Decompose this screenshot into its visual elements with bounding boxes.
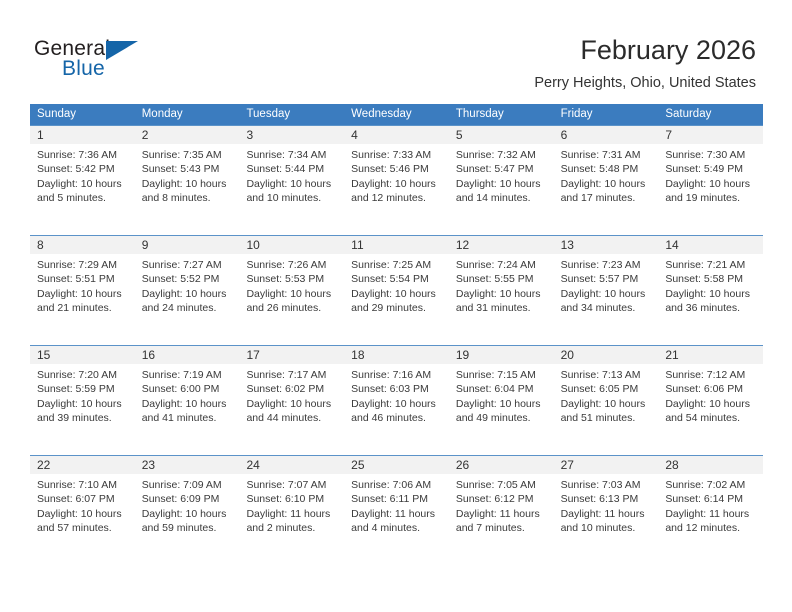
day-cell[interactable]: 17 Sunrise: 7:17 AM Sunset: 6:02 PM Dayl… xyxy=(239,346,344,455)
day-cell[interactable]: 9 Sunrise: 7:27 AM Sunset: 5:52 PM Dayli… xyxy=(135,236,240,345)
daylight-text: Daylight: 10 hours and 12 minutes. xyxy=(351,177,441,206)
sunrise-text: Sunrise: 7:35 AM xyxy=(142,148,232,162)
sunrise-text: Sunrise: 7:02 AM xyxy=(665,478,755,492)
sunrise-text: Sunrise: 7:33 AM xyxy=(351,148,441,162)
daylight-text: Daylight: 10 hours and 31 minutes. xyxy=(456,287,546,316)
day-number: 4 xyxy=(344,126,449,144)
day-number: 18 xyxy=(344,346,449,364)
page-header: General Blue February 2026 Perry Heights… xyxy=(0,0,792,100)
day-cell[interactable]: 22 Sunrise: 7:10 AM Sunset: 6:07 PM Dayl… xyxy=(30,456,135,565)
day-info: Sunrise: 7:02 AM Sunset: 6:14 PM Dayligh… xyxy=(658,474,763,536)
sunset-text: Sunset: 5:51 PM xyxy=(37,272,127,286)
sunrise-text: Sunrise: 7:23 AM xyxy=(561,258,651,272)
daylight-text: Daylight: 10 hours and 51 minutes. xyxy=(561,397,651,426)
day-cell[interactable]: 20 Sunrise: 7:13 AM Sunset: 6:05 PM Dayl… xyxy=(554,346,659,455)
sunrise-text: Sunrise: 7:05 AM xyxy=(456,478,546,492)
day-number: 19 xyxy=(449,346,554,364)
day-number: 6 xyxy=(554,126,659,144)
day-number: 22 xyxy=(30,456,135,474)
sunset-text: Sunset: 6:12 PM xyxy=(456,492,546,506)
day-number: 17 xyxy=(239,346,344,364)
day-number: 27 xyxy=(554,456,659,474)
title-block: February 2026 Perry Heights, Ohio, Unite… xyxy=(534,34,756,92)
sunrise-text: Sunrise: 7:21 AM xyxy=(665,258,755,272)
general-blue-logo[interactable]: General Blue xyxy=(34,38,194,86)
daylight-text: Daylight: 10 hours and 14 minutes. xyxy=(456,177,546,206)
day-cell[interactable]: 15 Sunrise: 7:20 AM Sunset: 5:59 PM Dayl… xyxy=(30,346,135,455)
sunrise-text: Sunrise: 7:06 AM xyxy=(351,478,441,492)
day-number: 10 xyxy=(239,236,344,254)
sunset-text: Sunset: 6:03 PM xyxy=(351,382,441,396)
daylight-text: Daylight: 10 hours and 39 minutes. xyxy=(37,397,127,426)
sunset-text: Sunset: 5:54 PM xyxy=(351,272,441,286)
sunset-text: Sunset: 6:09 PM xyxy=(142,492,232,506)
sunset-text: Sunset: 5:46 PM xyxy=(351,162,441,176)
page-subtitle-location: Perry Heights, Ohio, United States xyxy=(534,75,756,92)
sunset-text: Sunset: 5:52 PM xyxy=(142,272,232,286)
day-number: 26 xyxy=(449,456,554,474)
day-number: 13 xyxy=(554,236,659,254)
day-info: Sunrise: 7:27 AM Sunset: 5:52 PM Dayligh… xyxy=(135,254,240,316)
day-info: Sunrise: 7:10 AM Sunset: 6:07 PM Dayligh… xyxy=(30,474,135,536)
daylight-text: Daylight: 10 hours and 49 minutes. xyxy=(456,397,546,426)
sunrise-text: Sunrise: 7:34 AM xyxy=(246,148,336,162)
sunset-text: Sunset: 5:59 PM xyxy=(37,382,127,396)
weekday-header-tuesday: Tuesday xyxy=(239,104,344,125)
calendar-week-row: 8 Sunrise: 7:29 AM Sunset: 5:51 PM Dayli… xyxy=(30,235,763,345)
sunrise-text: Sunrise: 7:29 AM xyxy=(37,258,127,272)
daylight-text: Daylight: 10 hours and 5 minutes. xyxy=(37,177,127,206)
day-info: Sunrise: 7:35 AM Sunset: 5:43 PM Dayligh… xyxy=(135,144,240,206)
day-cell[interactable]: 12 Sunrise: 7:24 AM Sunset: 5:55 PM Dayl… xyxy=(449,236,554,345)
day-number: 15 xyxy=(30,346,135,364)
daylight-text: Daylight: 11 hours and 10 minutes. xyxy=(561,507,651,536)
daylight-text: Daylight: 11 hours and 4 minutes. xyxy=(351,507,441,536)
sunrise-text: Sunrise: 7:15 AM xyxy=(456,368,546,382)
daylight-text: Daylight: 11 hours and 2 minutes. xyxy=(246,507,336,536)
day-cell[interactable]: 21 Sunrise: 7:12 AM Sunset: 6:06 PM Dayl… xyxy=(658,346,763,455)
sunrise-text: Sunrise: 7:31 AM xyxy=(561,148,651,162)
day-number: 21 xyxy=(658,346,763,364)
day-number: 28 xyxy=(658,456,763,474)
day-cell[interactable]: 24 Sunrise: 7:07 AM Sunset: 6:10 PM Dayl… xyxy=(239,456,344,565)
day-cell[interactable]: 10 Sunrise: 7:26 AM Sunset: 5:53 PM Dayl… xyxy=(239,236,344,345)
daylight-text: Daylight: 10 hours and 54 minutes. xyxy=(665,397,755,426)
day-info: Sunrise: 7:36 AM Sunset: 5:42 PM Dayligh… xyxy=(30,144,135,206)
calendar-week-row: 22 Sunrise: 7:10 AM Sunset: 6:07 PM Dayl… xyxy=(30,455,763,565)
daylight-text: Daylight: 10 hours and 34 minutes. xyxy=(561,287,651,316)
sunset-text: Sunset: 6:10 PM xyxy=(246,492,336,506)
day-number: 8 xyxy=(30,236,135,254)
sunrise-text: Sunrise: 7:24 AM xyxy=(456,258,546,272)
sunset-text: Sunset: 6:13 PM xyxy=(561,492,651,506)
sunset-text: Sunset: 6:14 PM xyxy=(665,492,755,506)
calendar-page: General Blue February 2026 Perry Heights… xyxy=(0,0,792,612)
sunset-text: Sunset: 5:42 PM xyxy=(37,162,127,176)
day-number: 9 xyxy=(135,236,240,254)
day-info: Sunrise: 7:20 AM Sunset: 5:59 PM Dayligh… xyxy=(30,364,135,426)
sunset-text: Sunset: 6:06 PM xyxy=(665,382,755,396)
day-info: Sunrise: 7:07 AM Sunset: 6:10 PM Dayligh… xyxy=(239,474,344,536)
day-info: Sunrise: 7:33 AM Sunset: 5:46 PM Dayligh… xyxy=(344,144,449,206)
sunset-text: Sunset: 5:48 PM xyxy=(561,162,651,176)
weekday-header-thursday: Thursday xyxy=(449,104,554,125)
day-cell[interactable]: 2 Sunrise: 7:35 AM Sunset: 5:43 PM Dayli… xyxy=(135,126,240,235)
daylight-text: Daylight: 10 hours and 44 minutes. xyxy=(246,397,336,426)
daylight-text: Daylight: 10 hours and 29 minutes. xyxy=(351,287,441,316)
day-info: Sunrise: 7:13 AM Sunset: 6:05 PM Dayligh… xyxy=(554,364,659,426)
day-info: Sunrise: 7:16 AM Sunset: 6:03 PM Dayligh… xyxy=(344,364,449,426)
page-title: February 2026 xyxy=(534,34,756,66)
weekday-header-wednesday: Wednesday xyxy=(344,104,449,125)
daylight-text: Daylight: 10 hours and 17 minutes. xyxy=(561,177,651,206)
day-info: Sunrise: 7:29 AM Sunset: 5:51 PM Dayligh… xyxy=(30,254,135,316)
day-cell[interactable]: 7 Sunrise: 7:30 AM Sunset: 5:49 PM Dayli… xyxy=(658,126,763,235)
day-cell[interactable]: 13 Sunrise: 7:23 AM Sunset: 5:57 PM Dayl… xyxy=(554,236,659,345)
day-cell[interactable]: 6 Sunrise: 7:31 AM Sunset: 5:48 PM Dayli… xyxy=(554,126,659,235)
sunset-text: Sunset: 5:44 PM xyxy=(246,162,336,176)
day-info: Sunrise: 7:15 AM Sunset: 6:04 PM Dayligh… xyxy=(449,364,554,426)
weekday-header-monday: Monday xyxy=(135,104,240,125)
day-info: Sunrise: 7:17 AM Sunset: 6:02 PM Dayligh… xyxy=(239,364,344,426)
day-info: Sunrise: 7:32 AM Sunset: 5:47 PM Dayligh… xyxy=(449,144,554,206)
daylight-text: Daylight: 10 hours and 24 minutes. xyxy=(142,287,232,316)
sunrise-text: Sunrise: 7:03 AM xyxy=(561,478,651,492)
weekday-header-row: Sunday Monday Tuesday Wednesday Thursday… xyxy=(30,104,763,125)
logo-triangle-icon xyxy=(106,41,138,60)
day-cell[interactable]: 18 Sunrise: 7:16 AM Sunset: 6:03 PM Dayl… xyxy=(344,346,449,455)
day-info: Sunrise: 7:05 AM Sunset: 6:12 PM Dayligh… xyxy=(449,474,554,536)
logo-text-blue: Blue xyxy=(62,58,105,80)
daylight-text: Daylight: 10 hours and 36 minutes. xyxy=(665,287,755,316)
day-cell[interactable]: 19 Sunrise: 7:15 AM Sunset: 6:04 PM Dayl… xyxy=(449,346,554,455)
day-info: Sunrise: 7:23 AM Sunset: 5:57 PM Dayligh… xyxy=(554,254,659,316)
day-cell[interactable]: 23 Sunrise: 7:09 AM Sunset: 6:09 PM Dayl… xyxy=(135,456,240,565)
day-info: Sunrise: 7:24 AM Sunset: 5:55 PM Dayligh… xyxy=(449,254,554,316)
day-number: 20 xyxy=(554,346,659,364)
sunset-text: Sunset: 6:11 PM xyxy=(351,492,441,506)
day-info: Sunrise: 7:26 AM Sunset: 5:53 PM Dayligh… xyxy=(239,254,344,316)
day-number: 12 xyxy=(449,236,554,254)
sunset-text: Sunset: 6:04 PM xyxy=(456,382,546,396)
sunrise-text: Sunrise: 7:07 AM xyxy=(246,478,336,492)
sunrise-text: Sunrise: 7:12 AM xyxy=(665,368,755,382)
sunrise-text: Sunrise: 7:09 AM xyxy=(142,478,232,492)
day-info: Sunrise: 7:34 AM Sunset: 5:44 PM Dayligh… xyxy=(239,144,344,206)
day-number: 25 xyxy=(344,456,449,474)
day-cell[interactable]: 26 Sunrise: 7:05 AM Sunset: 6:12 PM Dayl… xyxy=(449,456,554,565)
day-cell[interactable]: 8 Sunrise: 7:29 AM Sunset: 5:51 PM Dayli… xyxy=(30,236,135,345)
day-number: 5 xyxy=(449,126,554,144)
calendar-week-row: 15 Sunrise: 7:20 AM Sunset: 5:59 PM Dayl… xyxy=(30,345,763,455)
sunrise-text: Sunrise: 7:27 AM xyxy=(142,258,232,272)
day-cell[interactable]: 11 Sunrise: 7:25 AM Sunset: 5:54 PM Dayl… xyxy=(344,236,449,345)
daylight-text: Daylight: 10 hours and 8 minutes. xyxy=(142,177,232,206)
sunset-text: Sunset: 5:49 PM xyxy=(665,162,755,176)
day-info: Sunrise: 7:21 AM Sunset: 5:58 PM Dayligh… xyxy=(658,254,763,316)
daylight-text: Daylight: 11 hours and 7 minutes. xyxy=(456,507,546,536)
sunset-text: Sunset: 5:57 PM xyxy=(561,272,651,286)
sunset-text: Sunset: 5:43 PM xyxy=(142,162,232,176)
daylight-text: Daylight: 10 hours and 59 minutes. xyxy=(142,507,232,536)
sunset-text: Sunset: 6:07 PM xyxy=(37,492,127,506)
day-info: Sunrise: 7:12 AM Sunset: 6:06 PM Dayligh… xyxy=(658,364,763,426)
sunset-text: Sunset: 6:00 PM xyxy=(142,382,232,396)
sunrise-text: Sunrise: 7:30 AM xyxy=(665,148,755,162)
weekday-header-saturday: Saturday xyxy=(658,104,763,125)
day-number: 1 xyxy=(30,126,135,144)
sunset-text: Sunset: 5:58 PM xyxy=(665,272,755,286)
day-info: Sunrise: 7:03 AM Sunset: 6:13 PM Dayligh… xyxy=(554,474,659,536)
day-cell[interactable]: 27 Sunrise: 7:03 AM Sunset: 6:13 PM Dayl… xyxy=(554,456,659,565)
sunset-text: Sunset: 5:47 PM xyxy=(456,162,546,176)
sunrise-text: Sunrise: 7:32 AM xyxy=(456,148,546,162)
daylight-text: Daylight: 10 hours and 19 minutes. xyxy=(665,177,755,206)
day-number: 2 xyxy=(135,126,240,144)
day-cell[interactable]: 4 Sunrise: 7:33 AM Sunset: 5:46 PM Dayli… xyxy=(344,126,449,235)
day-cell[interactable]: 16 Sunrise: 7:19 AM Sunset: 6:00 PM Dayl… xyxy=(135,346,240,455)
daylight-text: Daylight: 10 hours and 21 minutes. xyxy=(37,287,127,316)
sunset-text: Sunset: 5:53 PM xyxy=(246,272,336,286)
day-info: Sunrise: 7:09 AM Sunset: 6:09 PM Dayligh… xyxy=(135,474,240,536)
day-cell[interactable]: 3 Sunrise: 7:34 AM Sunset: 5:44 PM Dayli… xyxy=(239,126,344,235)
calendar-table: Sunday Monday Tuesday Wednesday Thursday… xyxy=(30,104,763,565)
day-number: 14 xyxy=(658,236,763,254)
day-number: 7 xyxy=(658,126,763,144)
sunrise-text: Sunrise: 7:25 AM xyxy=(351,258,441,272)
day-cell[interactable]: 25 Sunrise: 7:06 AM Sunset: 6:11 PM Dayl… xyxy=(344,456,449,565)
weekday-header-sunday: Sunday xyxy=(30,104,135,125)
daylight-text: Daylight: 10 hours and 57 minutes. xyxy=(37,507,127,536)
weekday-header-friday: Friday xyxy=(554,104,659,125)
daylight-text: Daylight: 10 hours and 26 minutes. xyxy=(246,287,336,316)
day-cell[interactable]: 1 Sunrise: 7:36 AM Sunset: 5:42 PM Dayli… xyxy=(30,126,135,235)
day-number: 24 xyxy=(239,456,344,474)
sunrise-text: Sunrise: 7:19 AM xyxy=(142,368,232,382)
day-info: Sunrise: 7:19 AM Sunset: 6:00 PM Dayligh… xyxy=(135,364,240,426)
daylight-text: Daylight: 10 hours and 46 minutes. xyxy=(351,397,441,426)
calendar-week-row: 1 Sunrise: 7:36 AM Sunset: 5:42 PM Dayli… xyxy=(30,125,763,235)
day-info: Sunrise: 7:30 AM Sunset: 5:49 PM Dayligh… xyxy=(658,144,763,206)
daylight-text: Daylight: 11 hours and 12 minutes. xyxy=(665,507,755,536)
daylight-text: Daylight: 10 hours and 10 minutes. xyxy=(246,177,336,206)
day-number: 16 xyxy=(135,346,240,364)
sunrise-text: Sunrise: 7:26 AM xyxy=(246,258,336,272)
sunrise-text: Sunrise: 7:17 AM xyxy=(246,368,336,382)
day-cell[interactable]: 28 Sunrise: 7:02 AM Sunset: 6:14 PM Dayl… xyxy=(658,456,763,565)
sunrise-text: Sunrise: 7:16 AM xyxy=(351,368,441,382)
sunrise-text: Sunrise: 7:10 AM xyxy=(37,478,127,492)
day-info: Sunrise: 7:06 AM Sunset: 6:11 PM Dayligh… xyxy=(344,474,449,536)
day-number: 23 xyxy=(135,456,240,474)
sunset-text: Sunset: 5:55 PM xyxy=(456,272,546,286)
day-cell[interactable]: 5 Sunrise: 7:32 AM Sunset: 5:47 PM Dayli… xyxy=(449,126,554,235)
day-info: Sunrise: 7:31 AM Sunset: 5:48 PM Dayligh… xyxy=(554,144,659,206)
sunrise-text: Sunrise: 7:36 AM xyxy=(37,148,127,162)
day-number: 11 xyxy=(344,236,449,254)
day-cell[interactable]: 14 Sunrise: 7:21 AM Sunset: 5:58 PM Dayl… xyxy=(658,236,763,345)
sunset-text: Sunset: 6:05 PM xyxy=(561,382,651,396)
sunrise-text: Sunrise: 7:20 AM xyxy=(37,368,127,382)
day-number: 3 xyxy=(239,126,344,144)
sunset-text: Sunset: 6:02 PM xyxy=(246,382,336,396)
day-info: Sunrise: 7:25 AM Sunset: 5:54 PM Dayligh… xyxy=(344,254,449,316)
daylight-text: Daylight: 10 hours and 41 minutes. xyxy=(142,397,232,426)
sunrise-text: Sunrise: 7:13 AM xyxy=(561,368,651,382)
